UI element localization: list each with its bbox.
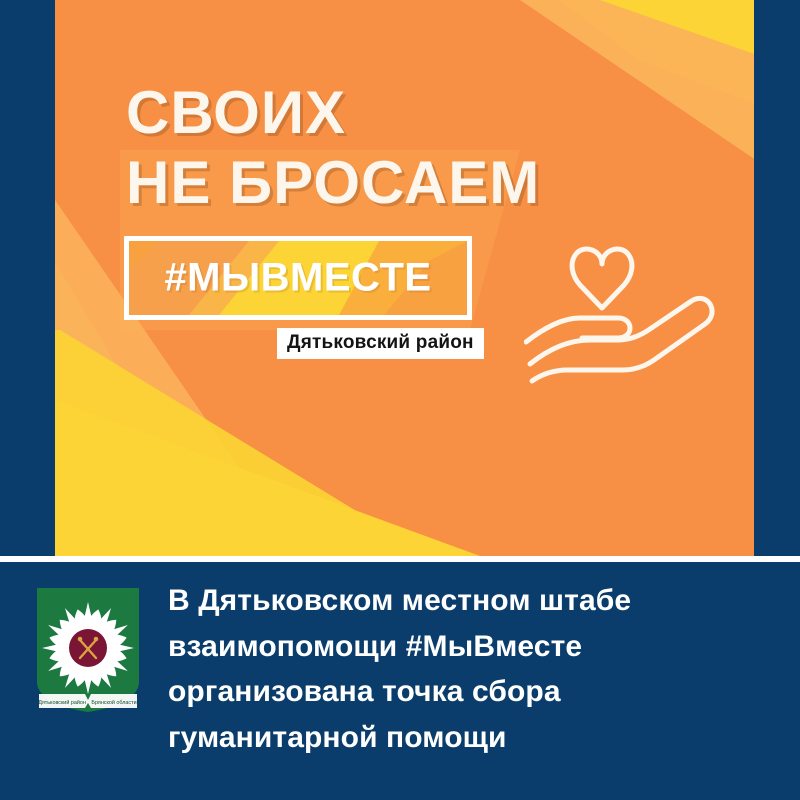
footer-line-1: В Дятьковском местном штабе (168, 578, 768, 624)
panel-divider (0, 556, 800, 562)
hashtag-box: #МЫВМЕСТЕ (124, 236, 472, 320)
poster-top-panel: СВОИХ НЕ БРОСАЕМ #МЫВМЕСТЕ Дятьковский р… (0, 0, 800, 556)
footer-line-2: взаимопомощи #МыВместе (168, 624, 768, 670)
left-navy-strip (0, 0, 55, 556)
poster-headline: СВОИХ НЕ БРОСАЕМ (126, 78, 540, 218)
emblem-banner-right: Брянской области (91, 699, 136, 706)
emblem-banner-left: Дятьковский район (38, 699, 86, 706)
headline-line-2: НЕ БРОСАЕМ (126, 148, 540, 218)
poster-root: СВОИХ НЕ БРОСАЕМ #МЫВМЕСТЕ Дятьковский р… (0, 0, 800, 800)
footer-line-3: организована точка сбора (168, 669, 768, 715)
footer-line-4: гуманитарной помощи (168, 715, 768, 761)
coat-of-arms-emblem: Дятьковский район Брянской области (35, 586, 141, 714)
hand-holding-heart-icon (524, 236, 734, 386)
district-chip: Дятьковский район (277, 328, 484, 359)
right-navy-strip (754, 0, 800, 556)
footer-message: В Дятьковском местном штабе взаимопомощи… (168, 578, 768, 760)
hashtag-label: #МЫВМЕСТЕ (129, 256, 467, 301)
headline-line-1: СВОИХ (126, 78, 540, 148)
